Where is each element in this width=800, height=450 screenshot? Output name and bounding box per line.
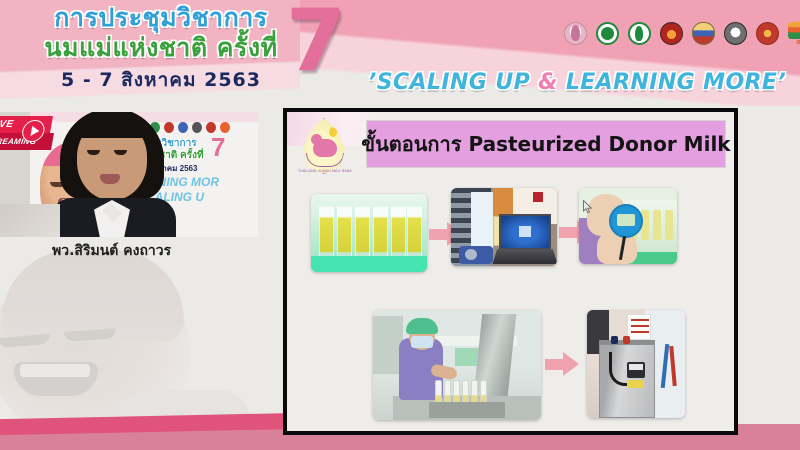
thaihealth-label: สสส <box>787 39 800 47</box>
photo-pasteurizer-machine <box>587 310 685 418</box>
thaihealth-sss-logo: สสส <box>787 22 800 53</box>
photo-milk-bottle-racks <box>311 194 427 272</box>
mouse-cursor <box>583 200 593 214</box>
live-streaming-badge: LIVE STREAMING <box>0 116 57 150</box>
child-face-watermark <box>0 250 255 440</box>
photo-nurse-loading-bottles <box>373 310 541 420</box>
conference-title-line1: การประชุมวิชาการ <box>26 4 296 31</box>
presentation-slide: THAILAND HUMAN MILK BANK ขั้นตอนการ Past… <box>287 112 734 431</box>
sponsor-logo-row: สสส <box>563 22 800 53</box>
photo-laptop-workstation <box>451 188 557 266</box>
royal-crest-logo <box>755 22 780 53</box>
tagline-close-quote: ’ <box>777 70 786 95</box>
speaker-name: พว.สิริมนต์ คงถาวร <box>52 240 242 262</box>
tagline-open-quote: ’ <box>368 70 377 95</box>
poster-edition-number: 7 <box>211 134 225 160</box>
screen: การประชุมวิชาการ นมแม่แห่งชาติ ครั้งที่ … <box>0 0 800 450</box>
nursing-council-logo <box>723 22 748 53</box>
tagline-ampersand: & <box>538 70 558 95</box>
edition-number: 7 <box>286 0 346 84</box>
milk-bank-logo-caption: THAILAND HUMAN MILK BANK <box>295 169 355 173</box>
department-of-health-logo <box>627 22 652 53</box>
ministry-of-public-health-green-logo <box>595 22 620 53</box>
tagline-part1: SCALING UP <box>377 70 538 95</box>
slide-title-text: ขั้นตอนการ Pasteurized Donor Milk <box>361 128 730 160</box>
presentation-slide-frame[interactable]: THAILAND HUMAN MILK BANK ขั้นตอนการ Past… <box>283 108 738 435</box>
photo-hand-holding-timer <box>579 188 677 264</box>
thai-breastfeeding-foundation-logo <box>563 22 588 53</box>
video-foreground-blur <box>0 204 60 237</box>
national-emblem-logo <box>691 22 716 53</box>
arrow-step4-to-step5 <box>545 352 579 376</box>
presenter-video <box>52 112 172 237</box>
conference-date: 5 - 7 สิงหาคม 2563 <box>26 65 296 95</box>
tagline-part2: LEARNING MORE <box>558 70 778 95</box>
human-milk-bank-drop-logo: THAILAND HUMAN MILK BANK <box>295 116 355 178</box>
royal-college-logo <box>659 22 684 53</box>
conference-title-line2: นมแม่แห่งชาติ ครั้งที่ <box>26 34 296 61</box>
conference-header: การประชุมวิชาการ นมแม่แห่งชาติ ครั้งที่ … <box>26 4 296 95</box>
conference-tagline: ’SCALING UP & LEARNING MORE’ <box>368 70 786 95</box>
slide-title-banner: ขั้นตอนการ Pasteurized Donor Milk <box>366 120 726 168</box>
